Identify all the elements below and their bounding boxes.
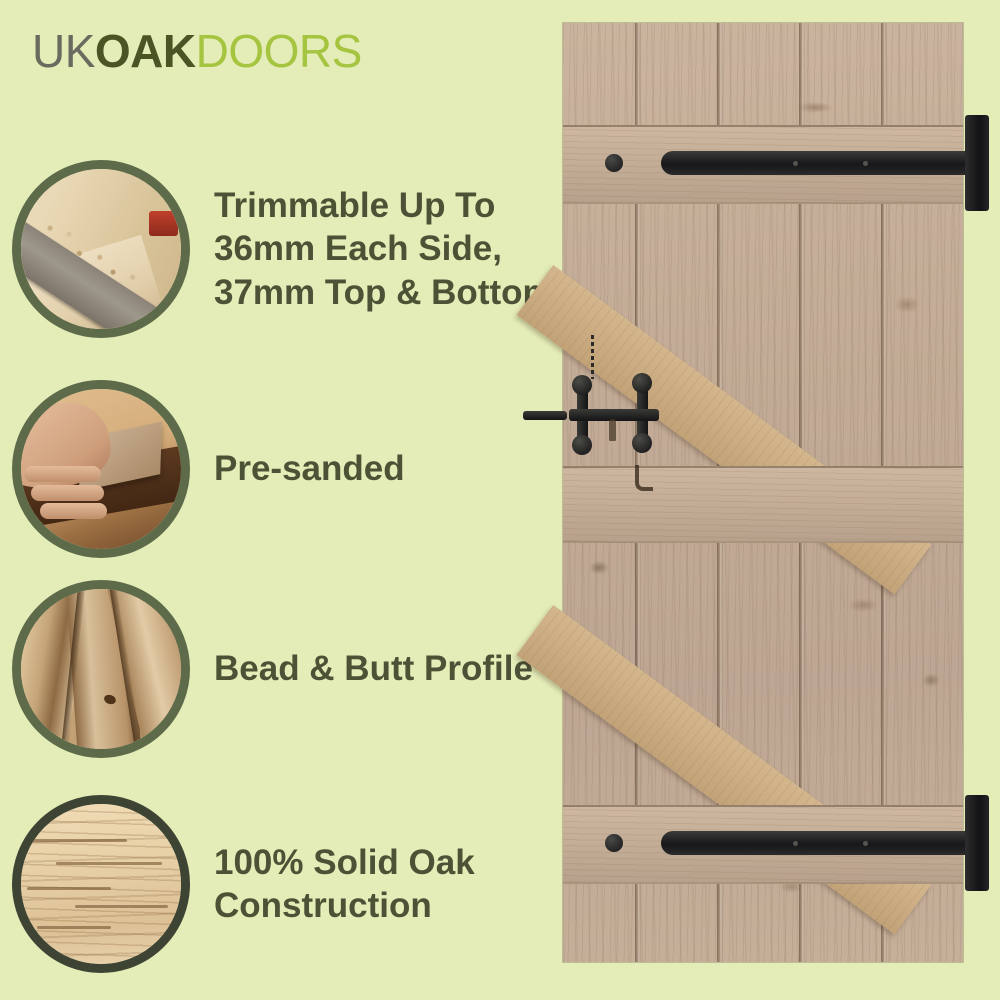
oak-door-product-image xyxy=(563,23,963,962)
oak-grain-texture-icon xyxy=(12,795,190,973)
latch-disc xyxy=(572,435,592,455)
t-hinge-top-plate xyxy=(965,115,989,211)
t-hinge-bottom-strap xyxy=(661,831,981,855)
hinge-rivet xyxy=(793,841,798,846)
latch-hook xyxy=(635,465,653,491)
oak-grain-photo-art xyxy=(21,804,181,964)
latch-chain xyxy=(591,335,594,379)
logo-part-uk: UK xyxy=(32,28,95,74)
saw-photo-art xyxy=(21,169,181,329)
bead-butt-profile-icon xyxy=(12,580,190,758)
logo-part-doors: DOORS xyxy=(196,28,362,74)
feature-label-trimmable: Trimmable Up To 36mm Each Side, 37mm Top… xyxy=(214,184,560,314)
brand-logo: UKOAKDOORS xyxy=(32,28,362,74)
bead-profile-photo-art xyxy=(21,589,181,749)
latch-disc xyxy=(572,375,592,395)
hand-sanding-wood-icon xyxy=(12,380,190,558)
feature-label-solid-oak: 100% Solid Oak Construction xyxy=(214,841,560,928)
door-face xyxy=(563,23,963,962)
ledge-middle xyxy=(563,466,963,543)
sanding-photo-art xyxy=(21,389,181,549)
t-hinge-bottom-plate xyxy=(965,795,989,891)
saw-cutting-timber-icon xyxy=(12,160,190,338)
latch-disc xyxy=(632,433,652,453)
feature-label-bead-and-butt: Bead & Butt Profile xyxy=(214,647,533,690)
keyhole xyxy=(609,419,616,441)
diagonal-brace-lower xyxy=(517,605,932,934)
logo-part-oak: OAK xyxy=(95,28,196,74)
feature-item-solid-oak: 100% Solid Oak Construction xyxy=(12,795,560,973)
promo-graphic: UKOAKDOORS Trimmable Up To 36mm Each Sid… xyxy=(0,0,1000,1000)
latch-handle xyxy=(523,411,567,420)
feature-label-pre-sanded: Pre-sanded xyxy=(214,447,405,490)
t-hinge-top-strap xyxy=(661,151,981,175)
feature-item-trimmable: Trimmable Up To 36mm Each Side, 37mm Top… xyxy=(12,160,560,338)
hinge-rivet xyxy=(863,161,868,166)
latch-disc xyxy=(632,373,652,393)
hinge-rivet xyxy=(863,841,868,846)
t-hinge-top-knob xyxy=(605,154,623,172)
feature-item-bead-and-butt: Bead & Butt Profile xyxy=(12,580,533,758)
feature-item-pre-sanded: Pre-sanded xyxy=(12,380,405,558)
t-hinge-bottom-knob xyxy=(605,834,623,852)
hinge-rivet xyxy=(793,161,798,166)
